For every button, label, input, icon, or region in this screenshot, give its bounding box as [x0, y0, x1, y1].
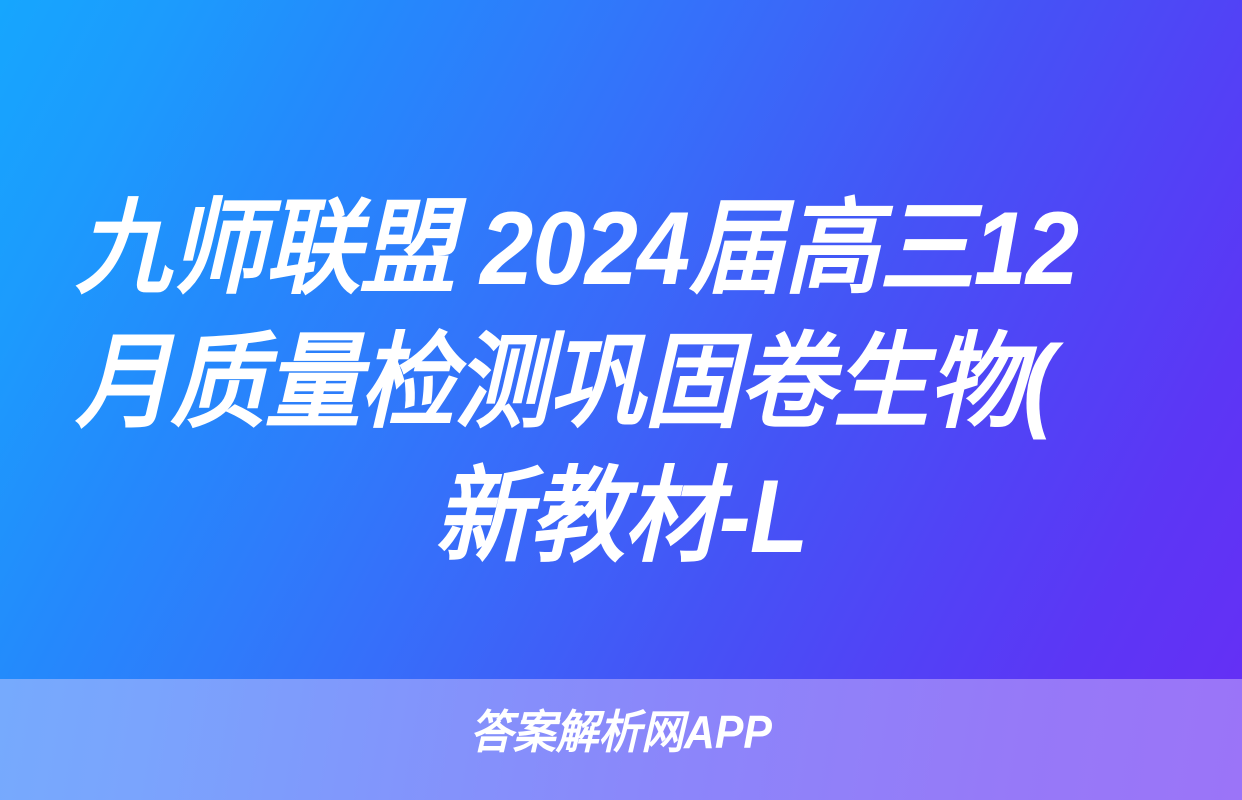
title-line-2: 月质量检测巩固卷生物( — [0, 316, 1143, 450]
title-line-1: 九师联盟 2024届高三12 — [0, 182, 1143, 316]
page-title: 九师联盟 2024届高三12 月质量检测巩固卷生物( 新教材-L — [0, 182, 1242, 584]
title-line-3: 新教材-L — [50, 450, 1193, 584]
exam-cover-banner: 九师联盟 2024届高三12 月质量检测巩固卷生物( 新教材-L 答案解析网AP… — [0, 0, 1242, 800]
watermark-app-name: 答案解析网APP — [43, 702, 1198, 762]
